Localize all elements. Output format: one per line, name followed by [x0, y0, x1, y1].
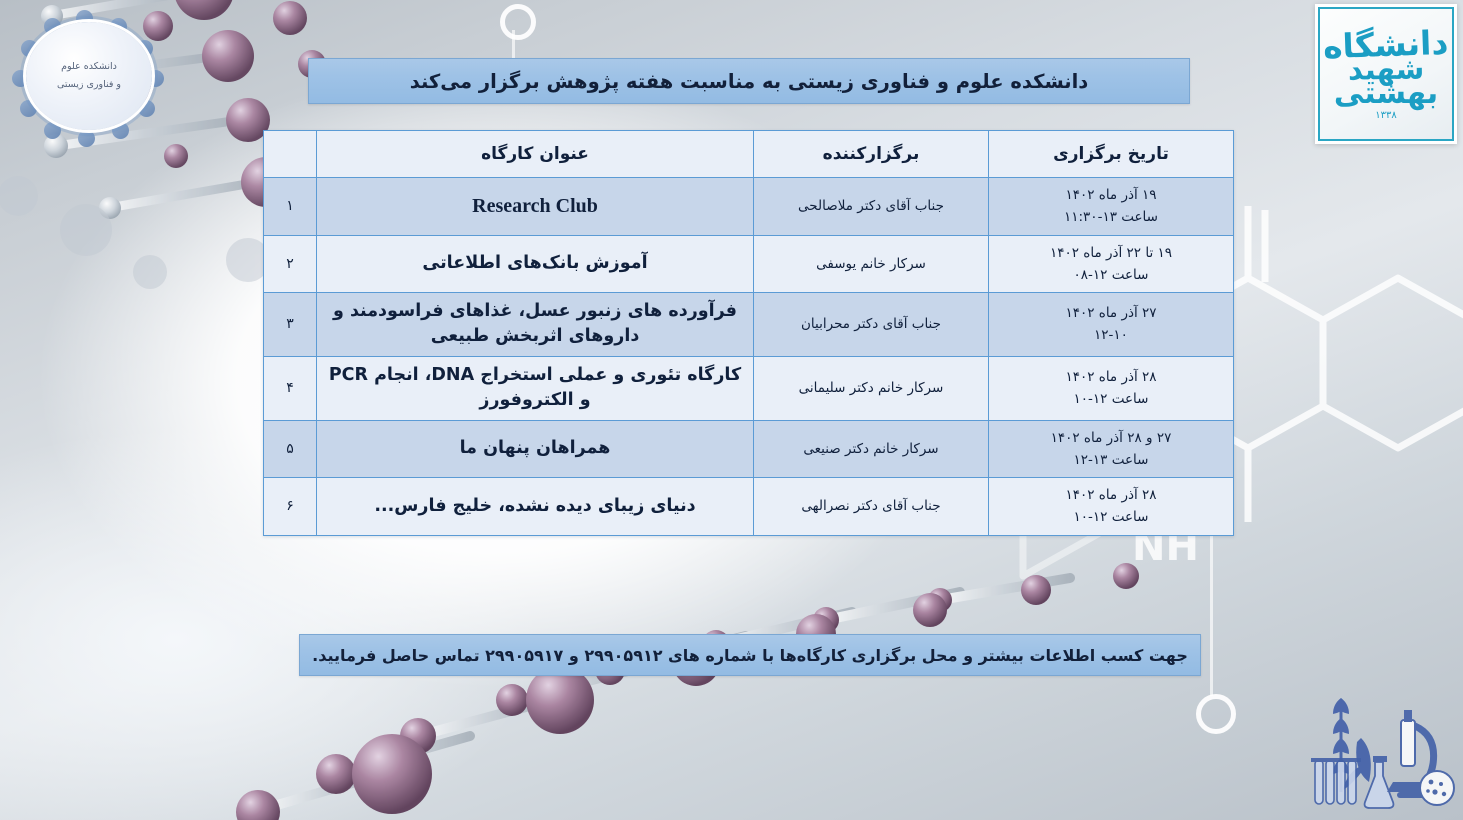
cell-row-number: ۱ [264, 178, 317, 236]
column-header-number [264, 131, 317, 178]
cell-workshop-title: فرآورده های زنبور عسل، غذاهای فراسودمند … [317, 293, 754, 357]
ring-accent-icon [500, 4, 536, 40]
date-line-2: ۱۲-۱۰ [997, 324, 1225, 346]
cell-workshop-title: کارگاه تئوری و عملی استخراج DNA، انجام P… [317, 356, 754, 420]
cell-host: سرکار خانم یوسفی [754, 235, 989, 293]
ring-accent-icon-2 [1196, 694, 1236, 734]
column-header-title: عنوان کارگاه [317, 131, 754, 178]
table-header-row: تاریخ برگزاری برگزارکننده عنوان کارگاه [264, 131, 1234, 178]
faculty-seal-line-2: و فناوری زیستی [57, 78, 121, 92]
cell-workshop-title: آموزش بانک‌های اطلاعاتی [317, 235, 754, 293]
cell-host: سرکار خانم دکتر سلیمانی [754, 356, 989, 420]
cell-row-number: ۵ [264, 420, 317, 478]
date-line-2: ساعت ۱۳-۱۲ [997, 449, 1225, 471]
cell-date: ۱۹ آذر ماه ۱۴۰۲ساعت ۱۳-۱۱:۳۰ [989, 178, 1234, 236]
table-row: ۲۷ آذر ماه ۱۴۰۲۱۲-۱۰جناب آقای دکتر محراب… [264, 293, 1234, 357]
university-logo-word-2: شهید [1348, 54, 1425, 84]
science-illustration-graphic [1297, 692, 1455, 814]
university-logo-year: ۱۳۳۸ [1375, 110, 1396, 121]
dna-helix-bottom-graphic [140, 560, 1320, 820]
workshop-schedule-table: تاریخ برگزاری برگزارکننده عنوان کارگاه ۱… [263, 130, 1234, 536]
cell-date: ۲۷ آذر ماه ۱۴۰۲۱۲-۱۰ [989, 293, 1234, 357]
cell-row-number: ۲ [264, 235, 317, 293]
faculty-seal-text: دانشکده علوم و فناوری زیستی [14, 12, 164, 140]
column-header-date: تاریخ برگزاری [989, 131, 1234, 178]
date-line-1: ۲۸ آذر ماه ۱۴۰۲ [997, 484, 1225, 506]
date-line-2: ساعت ۱۲-۱۰ [997, 388, 1225, 410]
cell-host: جناب آقای دکتر محرابیان [754, 293, 989, 357]
title-banner: دانشکده علوم و فناوری زیستی به مناسبت هف… [308, 58, 1190, 104]
table-row: ۱۹ تا ۲۲ آذر ماه ۱۴۰۲ساعت ۱۲-۰۸سرکار خان… [264, 235, 1234, 293]
cell-row-number: ۳ [264, 293, 317, 357]
faculty-seal-line-1: دانشکده علوم [61, 60, 117, 74]
date-line-2: ساعت ۱۲-۱۰ [997, 506, 1225, 528]
contact-info-banner: جهت کسب اطلاعات بیشتر و محل برگزاری کارگ… [299, 634, 1201, 676]
date-line-2: ساعت ۱۳-۱۱:۳۰ [997, 206, 1225, 228]
cell-date: ۲۸ آذر ماه ۱۴۰۲ساعت ۱۲-۱۰ [989, 478, 1234, 536]
date-line-1: ۲۷ و ۲۸ آذر ماه ۱۴۰۲ [997, 427, 1225, 449]
cell-host: سرکار خانم دکتر صنیعی [754, 420, 989, 478]
table-row: ۲۷ و ۲۸ آذر ماه ۱۴۰۲ساعت ۱۳-۱۲سرکار خانم… [264, 420, 1234, 478]
table-row: ۱۹ آذر ماه ۱۴۰۲ساعت ۱۳-۱۱:۳۰جناب آقای دک… [264, 178, 1234, 236]
cell-workshop-title: Research Club [317, 178, 754, 236]
schedule-table-container: تاریخ برگزاری برگزارکننده عنوان کارگاه ۱… [264, 130, 1234, 536]
cell-date: ۲۷ و ۲۸ آذر ماه ۱۴۰۲ساعت ۱۳-۱۲ [989, 420, 1234, 478]
column-header-host: برگزارکننده [754, 131, 989, 178]
date-line-1: ۱۹ تا ۲۲ آذر ماه ۱۴۰۲ [997, 242, 1225, 264]
cell-row-number: ۴ [264, 356, 317, 420]
cell-workshop-title: همراهان پنهان ما [317, 420, 754, 478]
cell-row-number: ۶ [264, 478, 317, 536]
cell-host: جناب آقای دکتر نصرالهی [754, 478, 989, 536]
table-body: ۱۹ آذر ماه ۱۴۰۲ساعت ۱۳-۱۱:۳۰جناب آقای دک… [264, 178, 1234, 536]
date-line-1: ۱۹ آذر ماه ۱۴۰۲ [997, 184, 1225, 206]
table-row: ۲۸ آذر ماه ۱۴۰۲ساعت ۱۲-۱۰جناب آقای دکتر … [264, 478, 1234, 536]
university-logo: دانشگاه شهید بهشتی ۱۳۳۸ [1315, 4, 1457, 144]
table-row: ۲۸ آذر ماه ۱۴۰۲ساعت ۱۲-۱۰سرکار خانم دکتر… [264, 356, 1234, 420]
faculty-seal-logo: دانشکده علوم و فناوری زیستی [14, 12, 164, 140]
date-line-1: ۲۷ آذر ماه ۱۴۰۲ [997, 302, 1225, 324]
date-line-2: ساعت ۱۲-۰۸ [997, 264, 1225, 286]
table-header: تاریخ برگزاری برگزارکننده عنوان کارگاه [264, 131, 1234, 178]
poster-canvas: CH 3 H NH [0, 0, 1463, 820]
date-line-1: ۲۸ آذر ماه ۱۴۰۲ [997, 366, 1225, 388]
cell-date: ۱۹ تا ۲۲ آذر ماه ۱۴۰۲ساعت ۱۲-۰۸ [989, 235, 1234, 293]
cell-host: جناب آقای دکتر ملاصالحی [754, 178, 989, 236]
cell-date: ۲۸ آذر ماه ۱۴۰۲ساعت ۱۲-۱۰ [989, 356, 1234, 420]
cell-workshop-title: دنیای زیبای دیده نشده، خلیج فارس... [317, 478, 754, 536]
